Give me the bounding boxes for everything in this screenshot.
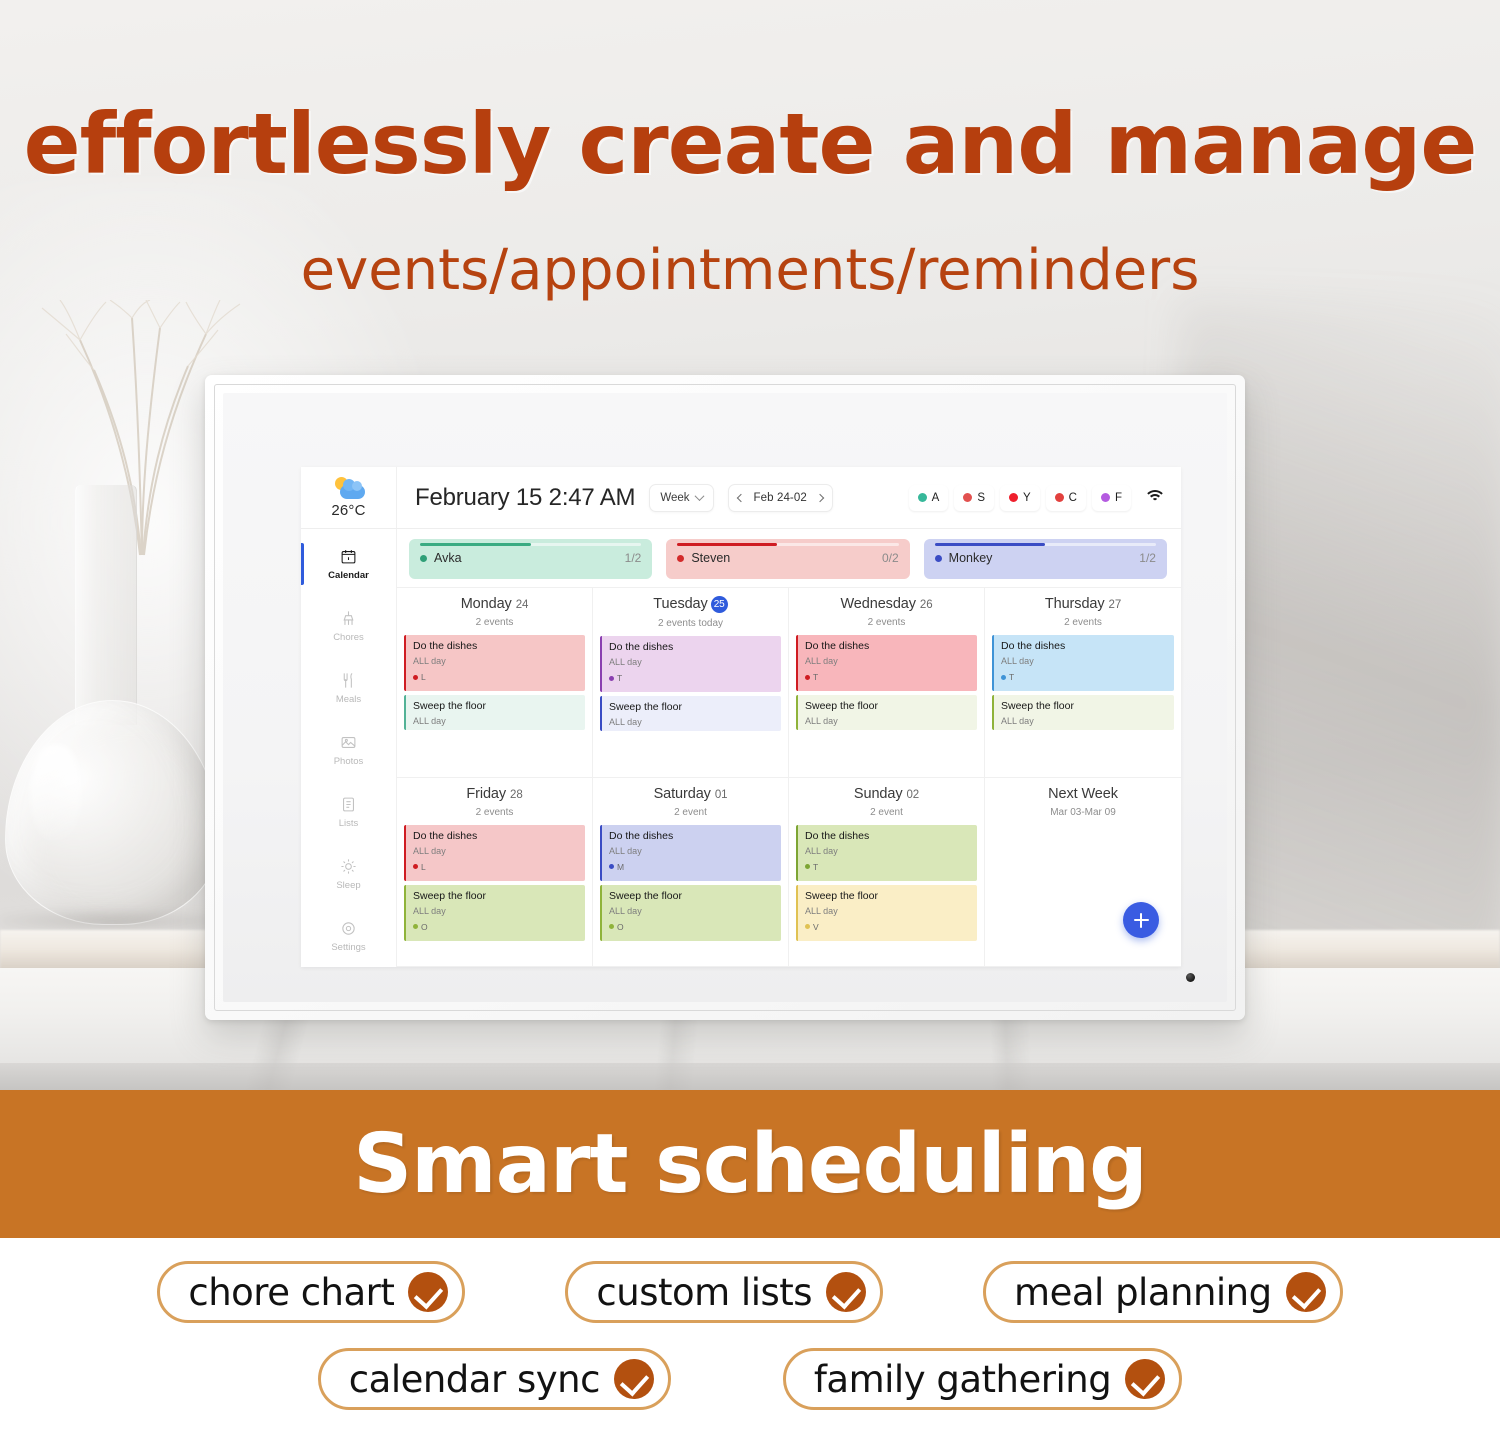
check-circle-icon: [1125, 1359, 1165, 1399]
hero-section: effortlessly create and manage events/ap…: [0, 0, 1500, 1090]
assignee-initial: T: [813, 862, 818, 872]
event-assignee: M: [609, 862, 775, 872]
day-event-count: 2 event: [600, 807, 781, 818]
app-body: Calendar Chores: [301, 529, 1181, 967]
assignee-dot: [805, 675, 810, 680]
feature-chip-meal-planning: meal planning: [983, 1261, 1343, 1323]
event-time: ALL day: [805, 716, 971, 726]
chevron-down-icon: [694, 491, 704, 501]
app-header: 26°C February 15 2:47 AM Week Feb 24-02: [301, 467, 1181, 529]
event-time: ALL day: [805, 656, 971, 666]
device-screen: 26°C February 15 2:47 AM Week Feb 24-02: [223, 393, 1227, 1002]
chevron-left-icon[interactable]: [736, 493, 744, 501]
event-title: Do the dishes: [413, 830, 579, 843]
progress-track: [677, 543, 898, 546]
event-title: Sweep the floor: [805, 700, 971, 713]
feature-chip-section: chore chart custom lists meal planning c…: [0, 1238, 1500, 1449]
event-card[interactable]: Do the dishes ALL day T: [796, 635, 977, 691]
avatar-initial: A: [932, 492, 940, 504]
member-dot: [935, 555, 942, 562]
event-assignee: T: [1001, 672, 1168, 682]
member-name: Avka: [434, 551, 462, 565]
event-card[interactable]: Sweep the floor ALL day O: [600, 885, 781, 941]
day-event-count: 2 events: [796, 617, 977, 628]
avatar-dot: [1009, 493, 1018, 502]
day-header: Next Week: [992, 786, 1174, 802]
check-circle-icon: [1286, 1272, 1326, 1312]
member-name: Monkey: [949, 551, 993, 565]
event-time: ALL day: [1001, 656, 1168, 666]
day-header: Saturday01: [600, 786, 781, 802]
next-week-range: Mar 03-Mar 09: [992, 807, 1174, 818]
feature-chip-label: chore chart: [188, 1271, 394, 1314]
day-header: Friday28: [404, 786, 585, 802]
sidebar-item-label: Chores: [333, 632, 364, 643]
avatar-initial: S: [977, 492, 985, 504]
sidebar-item-lists[interactable]: Lists: [301, 781, 396, 843]
avatar-initial: Y: [1023, 492, 1031, 504]
view-select-label: Week: [660, 492, 689, 504]
view-select[interactable]: Week: [649, 484, 713, 512]
assignee-initial: T: [1009, 672, 1014, 682]
event-title: Do the dishes: [1001, 640, 1168, 653]
day-header: Wednesday26: [796, 596, 977, 612]
avatar-chip[interactable]: Y: [1000, 485, 1040, 511]
sidebar-item-calendar[interactable]: Calendar: [301, 533, 396, 595]
sidebar-item-label: Lists: [339, 818, 359, 829]
sidebar-item-settings[interactable]: Settings: [301, 905, 396, 967]
event-title: Sweep the floor: [609, 701, 775, 714]
member-progress-card[interactable]: Monkey 1/2: [924, 539, 1167, 579]
banner-title: Smart scheduling: [353, 1117, 1147, 1212]
feature-chip-label: custom lists: [596, 1271, 812, 1314]
event-card[interactable]: Sweep the floor ALL day: [404, 695, 585, 730]
topbar: February 15 2:47 AM Week Feb 24-02: [397, 467, 1181, 528]
day-number: 01: [715, 789, 728, 801]
progress-track: [420, 543, 641, 546]
day-number: 28: [510, 789, 523, 801]
day-event-count: 2 events: [404, 617, 585, 628]
assignee-initial: V: [813, 922, 819, 932]
assignee-dot: [1001, 675, 1006, 680]
feature-chip-label: meal planning: [1014, 1271, 1272, 1314]
broom-icon: [340, 610, 357, 627]
member-count: 0/2: [882, 551, 899, 565]
event-assignee: V: [805, 922, 971, 932]
assignee-dot: [413, 924, 418, 929]
event-card[interactable]: Do the dishes ALL day T: [796, 825, 977, 881]
event-time: ALL day: [805, 906, 971, 916]
avatar-initial: F: [1115, 492, 1122, 504]
day-cell-tuesday[interactable]: Tuesday25 2 events today Do the dishes A…: [593, 588, 789, 778]
day-name: Tuesday: [653, 596, 707, 612]
sidebar: Calendar Chores: [301, 529, 397, 967]
avatar-initial: C: [1069, 492, 1077, 504]
wifi-icon[interactable]: [1143, 489, 1167, 507]
main-panel: Avka 1/2 Steven: [397, 529, 1181, 967]
avatar-dot: [963, 493, 972, 502]
day-cell-next-week[interactable]: Next Week Mar 03-Mar 09: [985, 778, 1181, 968]
day-header: Thursday27: [992, 596, 1174, 612]
day-cell-wednesday[interactable]: Wednesday26 2 events Do the dishes ALL d…: [789, 588, 985, 778]
day-event-count: 2 event: [796, 807, 977, 818]
event-title: Do the dishes: [609, 830, 775, 843]
progress-fill: [420, 543, 531, 546]
sun-cloud-icon: [332, 477, 366, 501]
feature-chip-family-gathering: family gathering: [783, 1348, 1182, 1410]
day-number: 27: [1109, 599, 1122, 611]
event-time: ALL day: [609, 657, 775, 667]
day-cell-thursday[interactable]: Thursday27 2 events Do the dishes ALL da…: [985, 588, 1181, 778]
event-card[interactable]: Do the dishes ALL day L: [404, 825, 585, 881]
event-time: ALL day: [805, 846, 971, 856]
day-number-today-badge: 25: [711, 596, 728, 613]
event-assignee: T: [805, 672, 971, 682]
feature-chip-row-1: chore chart custom lists meal planning: [0, 1238, 1500, 1323]
sidebar-item-photos[interactable]: Photos: [301, 719, 396, 781]
day-number: 24: [516, 599, 529, 611]
event-title: Sweep the floor: [1001, 700, 1168, 713]
day-event-count: 2 events: [992, 617, 1174, 628]
assignee-initial: L: [421, 672, 426, 682]
event-card[interactable]: Sweep the floor ALL day: [600, 696, 781, 731]
event-time: ALL day: [609, 906, 775, 916]
sidebar-item-label: Sleep: [336, 880, 360, 891]
event-time: ALL day: [413, 716, 579, 726]
event-title: Do the dishes: [805, 640, 971, 653]
assignee-dot: [609, 864, 614, 869]
calendar-icon: [340, 548, 357, 565]
event-title: Sweep the floor: [413, 890, 579, 903]
progress-fill: [677, 543, 777, 546]
day-name: Saturday: [654, 786, 711, 802]
assignee-dot: [805, 864, 810, 869]
avatar-chip[interactable]: F: [1092, 485, 1131, 511]
check-circle-icon: [614, 1359, 654, 1399]
week-grid: Monday24 2 events Do the dishes ALL day …: [397, 587, 1181, 967]
avatar-chip[interactable]: C: [1046, 485, 1086, 511]
gear-icon: [340, 920, 357, 937]
member-count: 1/2: [1139, 551, 1156, 565]
chevron-right-icon[interactable]: [816, 493, 824, 501]
sidebar-item-label: Calendar: [328, 570, 369, 581]
assignee-initial: T: [813, 672, 818, 682]
day-header: Tuesday25: [600, 596, 781, 613]
vase-highlight: [30, 745, 82, 841]
assignee-dot: [413, 675, 418, 680]
sidebar-item-label: Photos: [334, 756, 364, 767]
day-name: Wednesday: [840, 596, 915, 612]
weather-widget[interactable]: 26°C: [301, 467, 397, 528]
day-cell-sunday[interactable]: Sunday02 2 event Do the dishes ALL day T…: [789, 778, 985, 968]
assignee-dot: [413, 864, 418, 869]
day-event-count: 2 events today: [600, 618, 781, 629]
event-assignee: O: [609, 922, 775, 932]
progress-fill: [935, 543, 1046, 546]
event-title: Sweep the floor: [609, 890, 775, 903]
list-icon: [340, 796, 357, 813]
day-header: Monday24: [404, 596, 585, 612]
progress-track: [935, 543, 1156, 546]
page-subtitle: events/appointments/reminders: [0, 238, 1500, 303]
event-card[interactable]: Sweep the floor ALL day: [796, 695, 977, 730]
event-time: ALL day: [413, 656, 579, 666]
sidebar-item-meals[interactable]: Meals: [301, 657, 396, 719]
event-card[interactable]: Sweep the floor ALL day V: [796, 885, 977, 941]
day-name: Monday: [461, 596, 512, 612]
avatar-chip[interactable]: A: [909, 485, 949, 511]
feature-chip-label: family gathering: [814, 1358, 1111, 1401]
avatar-dot: [918, 493, 927, 502]
member-name: Steven: [691, 551, 730, 565]
sidebar-item-chores[interactable]: Chores: [301, 595, 396, 657]
assignee-dot: [805, 924, 810, 929]
avatar-dot: [1101, 493, 1110, 502]
avatar-chip[interactable]: S: [954, 485, 994, 511]
cutlery-icon: [340, 672, 357, 689]
day-cell-monday[interactable]: Monday24 2 events Do the dishes ALL day …: [397, 588, 593, 778]
day-number: 02: [907, 789, 920, 801]
event-time: ALL day: [609, 717, 775, 727]
vase-neck: [75, 485, 137, 725]
day-name: Sunday: [854, 786, 903, 802]
assignee-initial: T: [617, 673, 622, 683]
weather-temperature: 26°C: [331, 502, 365, 519]
assignee-initial: O: [421, 922, 428, 932]
day-cell-saturday[interactable]: Saturday01 2 event Do the dishes ALL day…: [593, 778, 789, 968]
sidebar-item-sleep[interactable]: Sleep: [301, 843, 396, 905]
day-event-count: 2 events: [404, 807, 585, 818]
event-card[interactable]: Sweep the floor ALL day: [992, 695, 1174, 730]
feature-chip-row-2: calendar sync family gathering: [0, 1323, 1500, 1410]
check-circle-icon: [826, 1272, 866, 1312]
day-header: Sunday02: [796, 786, 977, 802]
page-title: effortlessly create and manage: [0, 95, 1500, 193]
calendar-app: 26°C February 15 2:47 AM Week Feb 24-02: [301, 467, 1181, 967]
assignee-initial: L: [421, 862, 426, 872]
counter-edge: [0, 1063, 1500, 1090]
event-assignee: T: [609, 673, 775, 683]
smart-scheduling-banner: Smart scheduling: [0, 1090, 1500, 1238]
event-title: Sweep the floor: [413, 700, 579, 713]
member-progress-card[interactable]: Avka 1/2: [409, 539, 652, 579]
sidebar-item-label: Meals: [336, 694, 361, 705]
avatar-dot: [1055, 493, 1064, 502]
event-assignee: L: [413, 862, 579, 872]
smart-display-device: 26°C February 15 2:47 AM Week Feb 24-02: [205, 375, 1245, 1020]
event-card[interactable]: Do the dishes ALL day L: [404, 635, 585, 691]
day-number: 26: [920, 599, 933, 611]
photo-icon: [340, 734, 357, 751]
event-card[interactable]: Sweep the floor ALL day O: [404, 885, 585, 941]
member-count: 1/2: [625, 551, 642, 565]
member-dot: [420, 555, 427, 562]
event-title: Do the dishes: [609, 641, 775, 654]
event-title: Do the dishes: [805, 830, 971, 843]
day-name: Thursday: [1045, 596, 1105, 612]
feature-chip-calendar-sync: calendar sync: [318, 1348, 671, 1410]
camera-dot-icon: [1186, 973, 1195, 982]
event-title: Sweep the floor: [805, 890, 971, 903]
event-time: ALL day: [413, 846, 579, 856]
add-event-button[interactable]: [1123, 902, 1159, 938]
event-time: ALL day: [413, 906, 579, 916]
event-card[interactable]: Do the dishes ALL day T: [600, 636, 781, 692]
check-circle-icon: [408, 1272, 448, 1312]
event-time: ALL day: [609, 846, 775, 856]
event-title: Do the dishes: [413, 640, 579, 653]
member-progress-list: Avka 1/2 Steven: [397, 529, 1181, 587]
avatar-filter-list: A S Y C: [909, 485, 1167, 511]
member-progress-card[interactable]: Steven 0/2: [666, 539, 909, 579]
member-dot: [677, 555, 684, 562]
event-card[interactable]: Do the dishes ALL day M: [600, 825, 781, 881]
event-time: ALL day: [1001, 716, 1168, 726]
assignee-dot: [609, 676, 614, 681]
assignee-dot: [609, 924, 614, 929]
event-assignee: T: [805, 862, 971, 872]
event-assignee: L: [413, 672, 579, 682]
day-name: Friday: [466, 786, 506, 802]
date-range-nav[interactable]: Feb 24-02: [728, 484, 833, 512]
clock-label: February 15 2:47 AM: [415, 484, 635, 512]
feature-chip-chore-chart: chore chart: [157, 1261, 465, 1323]
event-assignee: O: [413, 922, 579, 932]
assignee-initial: M: [617, 862, 624, 872]
event-card[interactable]: Do the dishes ALL day T: [992, 635, 1174, 691]
sun-icon: [340, 858, 357, 875]
feature-chip-custom-lists: custom lists: [565, 1261, 883, 1323]
feature-chip-label: calendar sync: [349, 1358, 600, 1401]
date-range-label: Feb 24-02: [754, 492, 807, 504]
day-name: Next Week: [1048, 786, 1118, 802]
assignee-initial: O: [617, 922, 624, 932]
day-cell-friday[interactable]: Friday28 2 events Do the dishes ALL day …: [397, 778, 593, 968]
sidebar-item-label: Settings: [331, 942, 365, 953]
